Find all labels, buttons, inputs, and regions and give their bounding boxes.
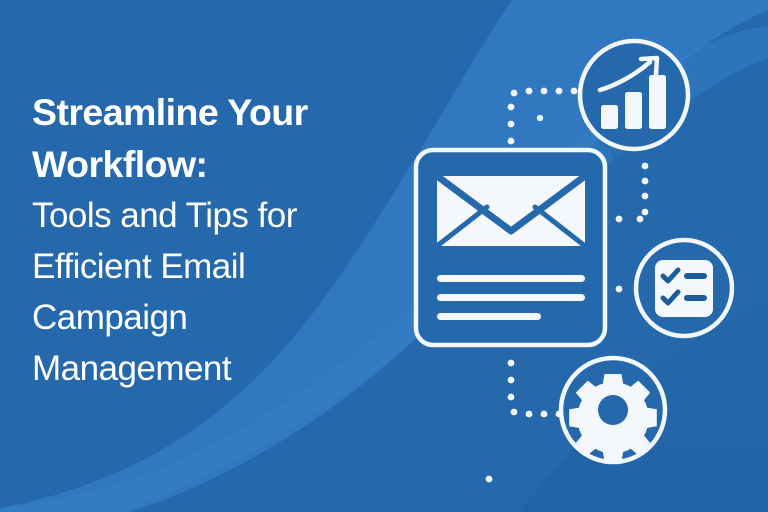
envelope-body	[437, 176, 585, 246]
connector-dot	[511, 90, 518, 97]
connector-dot	[571, 88, 578, 95]
headline-line-6: Management	[32, 343, 404, 394]
connector-card-to-gear	[486, 360, 563, 483]
connector-dot	[508, 104, 515, 111]
connector-dot	[541, 411, 548, 418]
email-campaign-banner: Streamline Your Workflow: Tools and Tips…	[0, 0, 768, 512]
connector-dot	[486, 476, 493, 483]
connector-card-to-chart	[508, 88, 578, 145]
connector-dot	[508, 394, 515, 401]
connector-dot	[526, 411, 533, 418]
email-message-card	[416, 150, 605, 345]
headline-line-2: Workflow:	[32, 138, 404, 190]
card-text-line	[437, 294, 585, 301]
analytics-chart-node	[580, 41, 688, 149]
connector-dot	[556, 88, 563, 95]
connector-dot	[642, 163, 649, 170]
connector-dot	[511, 409, 518, 416]
page-title: Streamline Your Workflow: Tools and Tips…	[32, 86, 404, 394]
connector-dot	[642, 178, 649, 185]
headline-line-4: Efficient Email	[32, 241, 404, 292]
connector-dot	[637, 216, 644, 223]
connector-dot	[642, 209, 649, 216]
checklist-icon	[655, 260, 713, 317]
connector-dot	[508, 138, 515, 145]
connector-dot	[508, 121, 515, 128]
card-text-line	[437, 313, 541, 320]
connector-dot	[616, 286, 623, 293]
headline-line-1: Streamline Your	[32, 86, 404, 138]
connector-dot	[541, 88, 548, 95]
card-text-line	[437, 275, 585, 282]
checklist-panel	[655, 260, 713, 317]
headline-line-5: Campaign	[32, 292, 404, 343]
connector-dot	[537, 115, 543, 121]
connector-dot	[508, 377, 515, 384]
chart-bar-2	[625, 92, 642, 129]
headline-line-3: Tools and Tips for	[32, 190, 404, 241]
settings-gear-node	[561, 358, 665, 462]
checklist-node	[636, 240, 732, 336]
connector-dot	[642, 193, 649, 200]
connector-dot	[508, 360, 515, 367]
connector-dot	[616, 216, 623, 223]
checklist-line-1	[684, 273, 707, 279]
envelope-icon	[437, 176, 585, 246]
chart-bar-3	[649, 75, 666, 129]
chart-bar-1	[601, 105, 618, 129]
checklist-line-2	[684, 295, 707, 301]
connector-dot	[526, 88, 533, 95]
